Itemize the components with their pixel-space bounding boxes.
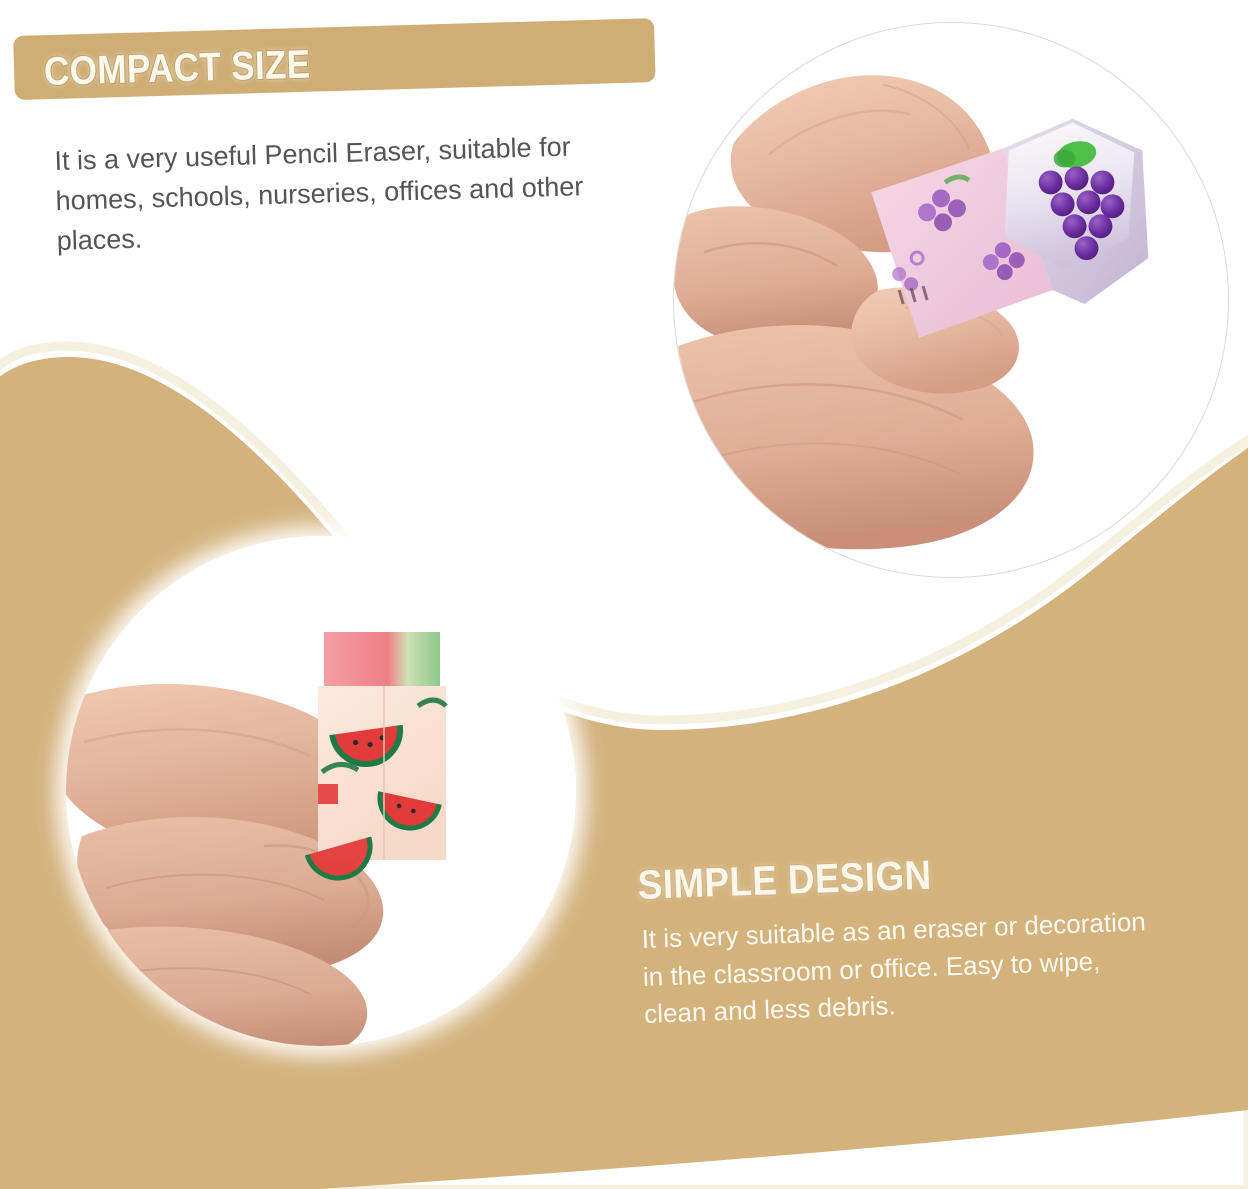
- product-infographic: COMPACT SIZE It is a very useful Pencil …: [0, 0, 1248, 1189]
- eraser-top-band: [324, 632, 440, 690]
- product-photo-grape-eraser: [673, 22, 1229, 578]
- eraser-sleeve: [307, 686, 446, 886]
- watermelon-eraser-illustration: [66, 536, 576, 1046]
- compact-size-heading: COMPACT SIZE: [43, 43, 311, 95]
- product-photo-watermelon-eraser: [66, 536, 576, 1046]
- simple-design-paragraph: It is very suitable as an eraser or deco…: [641, 903, 1165, 1034]
- compact-size-paragraph: It is a very useful Pencil Eraser, suita…: [54, 125, 657, 262]
- grape-eraser-illustration: [674, 23, 1228, 577]
